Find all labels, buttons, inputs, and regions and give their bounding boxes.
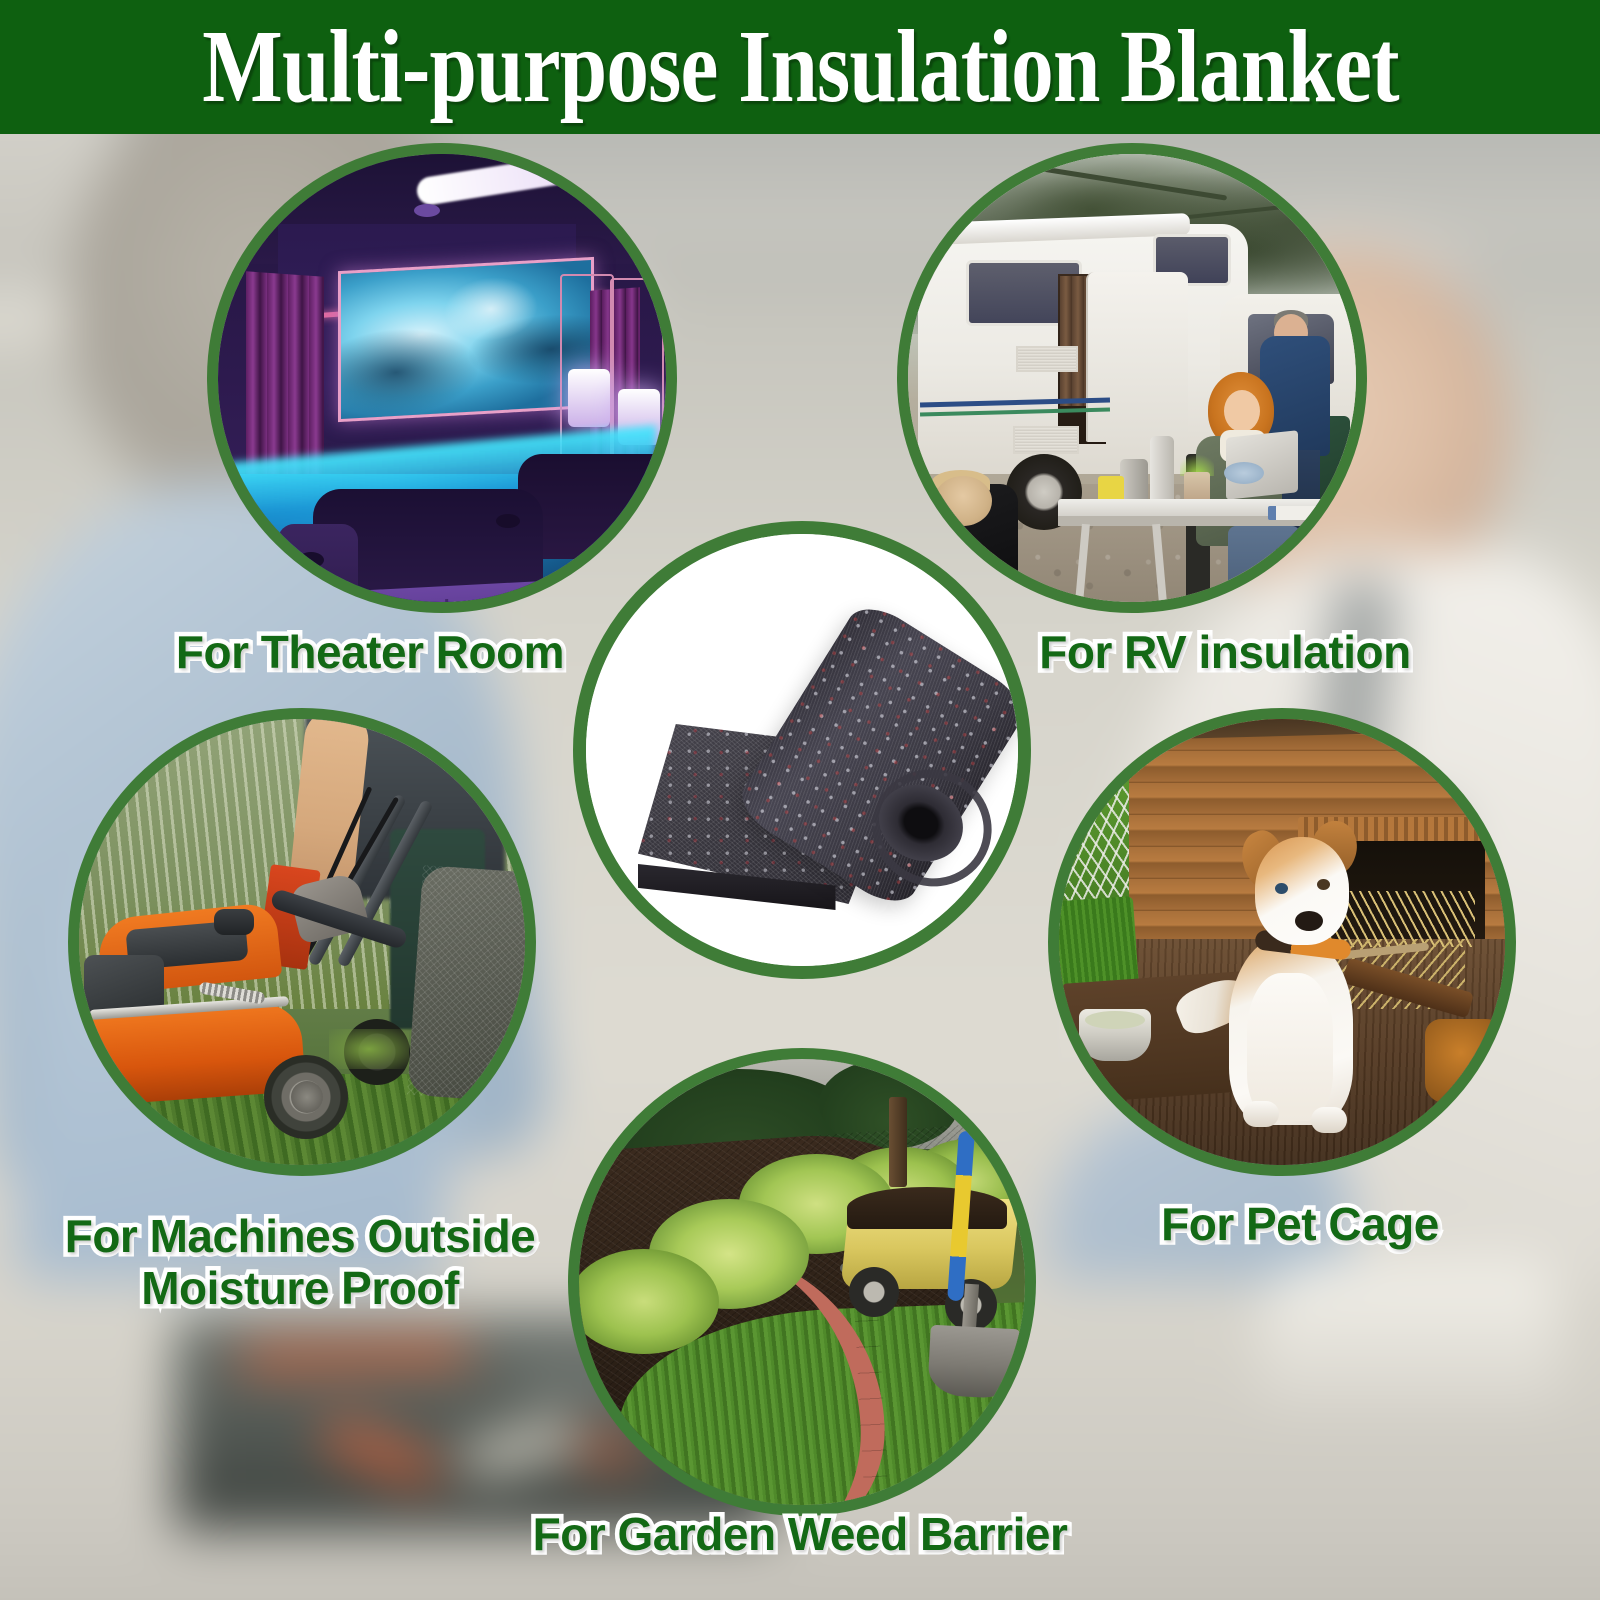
pet-log [1425,1019,1505,1103]
product-hero-circle[interactable] [573,521,1031,979]
pet-dog-eye-right [1317,879,1330,890]
use-case-circle-pet[interactable] [1048,708,1516,1176]
label-garden-weed-barrier: For Garden Weed Barrier [480,1510,1120,1559]
garden-shovel-blade [927,1325,1021,1400]
rv-woman-sneaker [1234,594,1278,602]
scene-product [586,534,1018,966]
rv-headphones [1224,462,1264,484]
page-title: Multi-purpose Insulation Blanket [202,15,1398,119]
theater-projection-screen [338,257,594,422]
pet-dog-paw-left [1243,1101,1279,1127]
garden-wheelbarrow-mulch [847,1187,1007,1229]
rv-boy-head [934,476,992,526]
scene-dog-kennel [1059,719,1505,1165]
theater-cupholder-1 [298,552,324,568]
label-machines-outside: For Machines Outside Moisture Proof [20,1210,580,1315]
garden-tree-stake [889,1097,907,1187]
background-shoe [1260,1260,1560,1410]
rv-notebook [1268,506,1332,520]
scene-lawn-mower [79,719,525,1165]
pet-dog-chest [1247,973,1333,1121]
label-rv-insulation: For RV insulation [1000,628,1450,677]
rv-vent-1 [1016,346,1078,372]
theater-cupholder-2 [496,514,520,528]
use-case-circle-machines[interactable] [68,708,536,1176]
theater-ceiling-spot [414,204,440,217]
label-pet-cage: For Pet Cage [1090,1200,1510,1249]
mower-wheel-hub [291,1081,323,1113]
use-case-circle-garden[interactable] [568,1048,1036,1516]
label-theater-room: For Theater Room [120,628,620,677]
pet-dog-paw-right [1311,1107,1347,1133]
theater-floor-lamp-1 [568,369,610,427]
pet-dog-eye-left [1275,883,1288,894]
product-infographic: Multi-purpose Insulation Blanket [0,0,1600,1600]
pet-dog-nose [1295,911,1323,931]
scene-garden-bed [579,1059,1025,1505]
rv-woman-jeans [1228,526,1300,602]
rv-vent-2 [1013,426,1079,454]
rv-woman-face [1224,390,1260,432]
title-banner: Multi-purpose Insulation Blanket [0,0,1600,134]
garden-wheelbarrow-wheel-1 [849,1267,899,1317]
pet-bowl-contents [1085,1011,1145,1029]
rv-thermos [1150,436,1174,504]
mower-grass-catcher-bag [407,865,525,1103]
mower-fuel-cap [214,909,254,935]
mower-grass-clippings [329,1029,409,1069]
rv-door [1086,272,1188,442]
